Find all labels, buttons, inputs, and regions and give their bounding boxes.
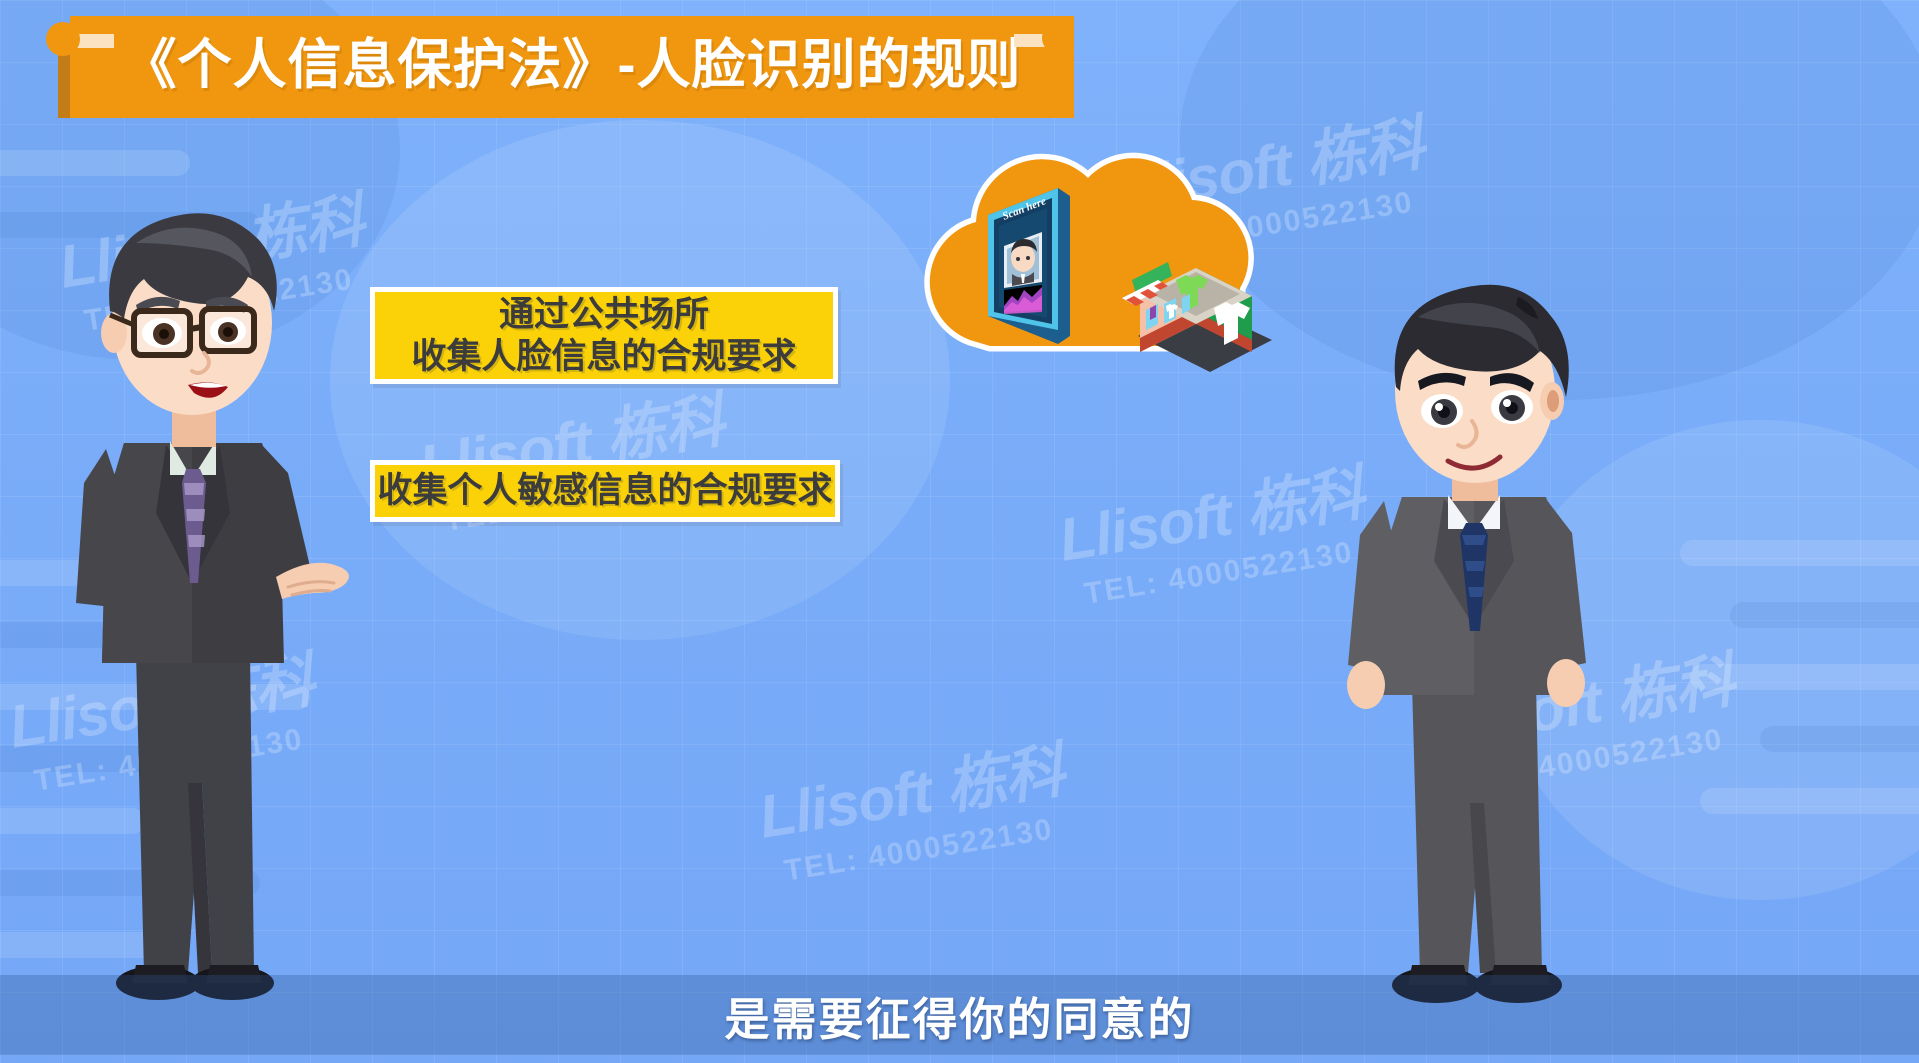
subtitle-text: 是需要征得你的同意的: [0, 975, 1919, 1055]
cloud-scene-svg: Scan here: [900, 140, 1320, 410]
callout-line: 通过公共场所: [499, 294, 709, 335]
background-stripe: [1680, 540, 1919, 566]
callout-line: 收集个人敏感信息的合规要求: [377, 470, 832, 511]
background-stripe: [1700, 788, 1919, 814]
face-photo: [1011, 239, 1037, 286]
character-listener: [1320, 283, 1650, 1063]
character-left-svg: [40, 183, 370, 1063]
banner-knob-left: [46, 22, 80, 56]
background-stripe: [1730, 602, 1919, 628]
slide-canvas: Llisoft 栋科 TEL: 4000522130 Llisoft 栋科 TE…: [0, 0, 1919, 1063]
callout-box-sensitive-info: 收集个人敏感信息的合规要求: [370, 460, 840, 522]
character-presenter: [40, 183, 370, 1063]
background-stripe: [0, 150, 190, 176]
title-banner: 《个人信息保护法》-人脸识别的规则: [46, 16, 1074, 118]
background-stripe: [1760, 726, 1919, 752]
callout-line: 收集人脸信息的合规要求: [411, 336, 796, 377]
banner-knob-right: [1042, 22, 1074, 54]
callout-box-public-places: 通过公共场所 收集人脸信息的合规要求: [370, 287, 838, 384]
phone-kiosk: Scan here: [988, 188, 1070, 344]
banner-plate: 《个人信息保护法》-人脸识别的规则: [70, 16, 1074, 118]
cloud-illustration: Scan here: [900, 140, 1320, 410]
page-title: 《个人信息保护法》-人脸识别的规则: [70, 16, 1074, 118]
character-right-svg: [1320, 283, 1650, 1063]
background-stripe: [1690, 664, 1919, 690]
